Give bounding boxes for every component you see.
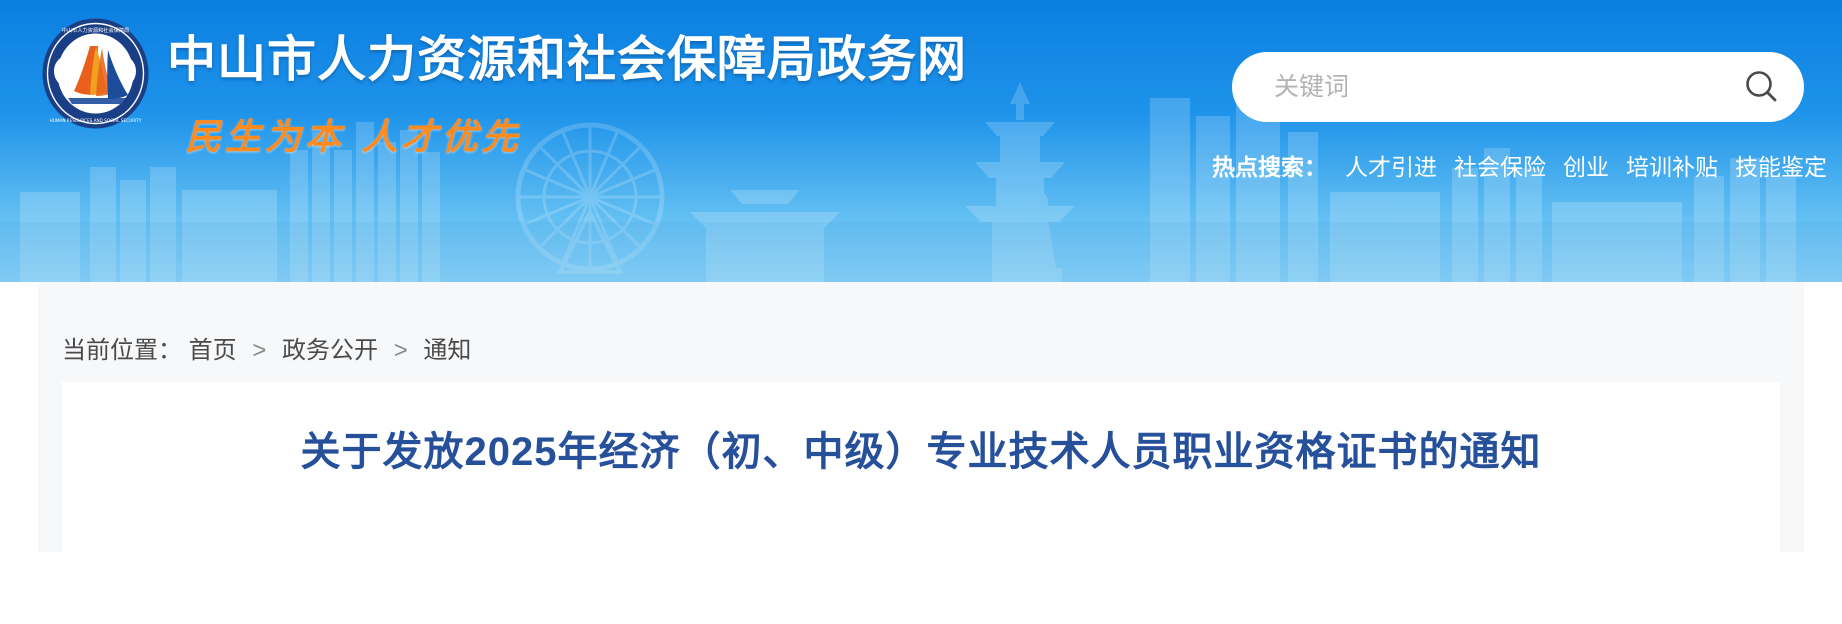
svg-text:中山市人力资源和社会保障局: 中山市人力资源和社会保障局: [62, 26, 129, 34]
search-input[interactable]: [1274, 73, 1734, 102]
site-brand[interactable]: 中山市人力资源和社会保障局 HUMAN RESOURCES AND SOCIAL…: [38, 16, 967, 160]
zhongshan-hrss-emblem-icon: 中山市人力资源和社会保障局 HUMAN RESOURCES AND SOCIAL…: [38, 16, 153, 131]
site-title: 中山市人力资源和社会保障局政务网: [167, 36, 967, 86]
search-button[interactable]: [1734, 59, 1790, 115]
breadcrumb-item-2[interactable]: 通知: [423, 337, 471, 364]
breadcrumb-item-0[interactable]: 首页: [189, 337, 237, 364]
hot-search-item-0[interactable]: 人才引进: [1345, 148, 1437, 182]
search-icon: [1742, 67, 1782, 107]
site-header-banner: 中山市人力资源和社会保障局 HUMAN RESOURCES AND SOCIAL…: [0, 0, 1842, 282]
article-title: 关于发放2025年经济（初、中级）专业技术人员职业资格证书的通知: [62, 382, 1780, 478]
hot-search-item-1[interactable]: 社会保险: [1454, 148, 1546, 182]
hot-search-label: 热点搜索：: [1212, 148, 1327, 182]
breadcrumb-prefix: 当前位置：: [62, 337, 182, 364]
breadcrumb-separator-1: >: [394, 337, 408, 364]
hot-search-row: 热点搜索： 人才引进 社会保险 创业 培训补贴 技能鉴定: [1212, 148, 1827, 182]
breadcrumb: 当前位置： 首页 > 政务公开 > 通知: [62, 330, 471, 365]
content-card: 当前位置： 首页 > 政务公开 > 通知 关于发放2025年经济（初、中级）专业…: [38, 282, 1804, 552]
breadcrumb-separator-0: >: [252, 337, 266, 364]
site-slogan: 民生为本 人才优先: [185, 108, 967, 160]
search-area: [1232, 52, 1804, 122]
hot-search-item-2[interactable]: 创业: [1563, 148, 1609, 182]
article-container: 关于发放2025年经济（初、中级）专业技术人员职业资格证书的通知: [62, 382, 1780, 552]
svg-text:HUMAN RESOURCES AND SOCIAL SEC: HUMAN RESOURCES AND SOCIAL SECURITY: [50, 118, 142, 123]
hot-search-item-3[interactable]: 培训补贴: [1626, 148, 1718, 182]
search-box[interactable]: [1232, 52, 1804, 122]
breadcrumb-item-1[interactable]: 政务公开: [282, 337, 378, 364]
page-body: 当前位置： 首页 > 政务公开 > 通知 关于发放2025年经济（初、中级）专业…: [0, 282, 1842, 552]
hot-search-item-4[interactable]: 技能鉴定: [1735, 148, 1827, 182]
